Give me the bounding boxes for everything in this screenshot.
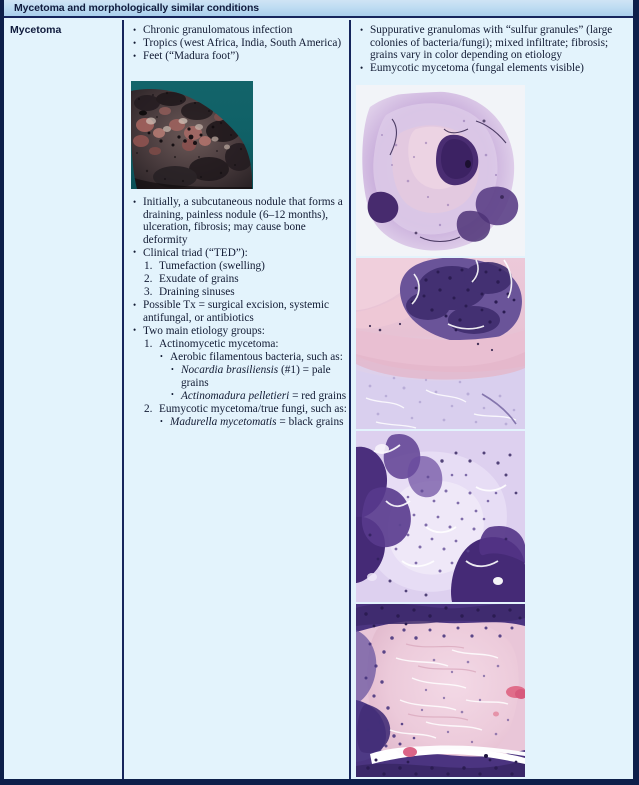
organism-detail: = black grains <box>277 416 344 428</box>
histology-list: Suppurative granulomas with “sulfur gran… <box>359 24 631 75</box>
sub-label: Aerobic filamentous bacteria, such as: <box>170 351 343 363</box>
table-row: Mycetoma Chronic granulomatous infection… <box>4 20 633 779</box>
organism-detail: = red grains <box>289 390 346 402</box>
list-item: Initially, a subcutaneous nodule that fo… <box>132 196 348 246</box>
organism-list: Madurella mycetomatis = black grains <box>159 416 348 429</box>
clinical-photo-madura-foot <box>131 81 253 189</box>
list-item: Draining sinuses <box>143 286 348 299</box>
list-item: Aerobic filamentous bacteria, such as: N… <box>159 351 348 402</box>
list-item: Tropics (west Africa, India, South Ameri… <box>132 37 344 50</box>
clinical-bottom-list: Initially, a subcutaneous nodule that fo… <box>132 196 348 429</box>
histology-low-power-grain <box>356 85 525 256</box>
list-item: Actinomycetic mycetoma: Aerobic filament… <box>143 338 348 402</box>
list-item: Possible Tx = surgical excision, systemi… <box>132 299 348 324</box>
organism-name: Actinomadura pelletieri <box>181 390 289 402</box>
list-item: Nocardia brasiliensis (#1) = pale grains <box>170 364 348 389</box>
etiology-group-label: Eumycotic mycetoma/true fungi, such as: <box>159 403 347 415</box>
clinical-top-list: Chronic granulomatous infection Tropics … <box>132 24 344 63</box>
list-item: Exudate of grains <box>143 273 348 286</box>
histology-cell: Suppurative granulomas with “sulfur gran… <box>349 20 633 779</box>
organism-name: Nocardia brasiliensis <box>181 364 278 376</box>
list-item: Chronic granulomatous infection <box>132 24 344 37</box>
etiology-sub-list: Aerobic filamentous bacteria, such as: N… <box>159 351 348 402</box>
list-item: Two main etiology groups: Actinomycetic … <box>132 325 348 429</box>
list-item-label: Clinical triad (“TED”): <box>143 247 248 259</box>
histology-fibrosis-with-inflammation <box>356 604 525 777</box>
list-item: Feet (“Madura foot”) <box>132 50 344 63</box>
reference-page: Mycetoma and morphologically similar con… <box>4 0 633 779</box>
table-title-bar: Mycetoma and morphologically similar con… <box>4 0 633 18</box>
entity-name-cell: Mycetoma <box>4 20 122 779</box>
entity-name-label: Mycetoma <box>10 24 61 36</box>
organism-list: Nocardia brasiliensis (#1) = pale grains… <box>170 364 348 402</box>
clinical-triad-list: Tumefaction (swelling) Exudate of grains… <box>143 260 348 299</box>
list-item: Suppurative granulomas with “sulfur gran… <box>359 24 631 62</box>
page-title: Mycetoma and morphologically similar con… <box>14 2 259 14</box>
list-item: Clinical triad (“TED”): Tumefaction (swe… <box>132 247 348 299</box>
clinical-features-cell: Chronic granulomatous infection Tropics … <box>122 20 349 779</box>
list-item: Eumycotic mycetoma/true fungi, such as: … <box>143 403 348 429</box>
list-item-label: Two main etiology groups: <box>143 325 265 337</box>
list-item: Eumycotic mycetoma (fungal elements visi… <box>359 62 631 75</box>
histology-image-stack <box>356 85 525 779</box>
list-item: Actinomadura pelletieri = red grains <box>170 390 348 403</box>
list-item: Tumefaction (swelling) <box>143 260 348 273</box>
organism-name: Madurella mycetomatis <box>170 416 277 428</box>
list-item: Madurella mycetomatis = black grains <box>159 416 348 429</box>
histology-grain-with-infiltrate <box>356 431 525 602</box>
etiology-group-list: Actinomycetic mycetoma: Aerobic filament… <box>143 338 348 429</box>
histology-neutrophil-aggregate <box>356 258 525 429</box>
etiology-group-label: Actinomycetic mycetoma: <box>159 338 279 350</box>
clinical-bottom-block: Initially, a subcutaneous nodule that fo… <box>132 196 348 429</box>
